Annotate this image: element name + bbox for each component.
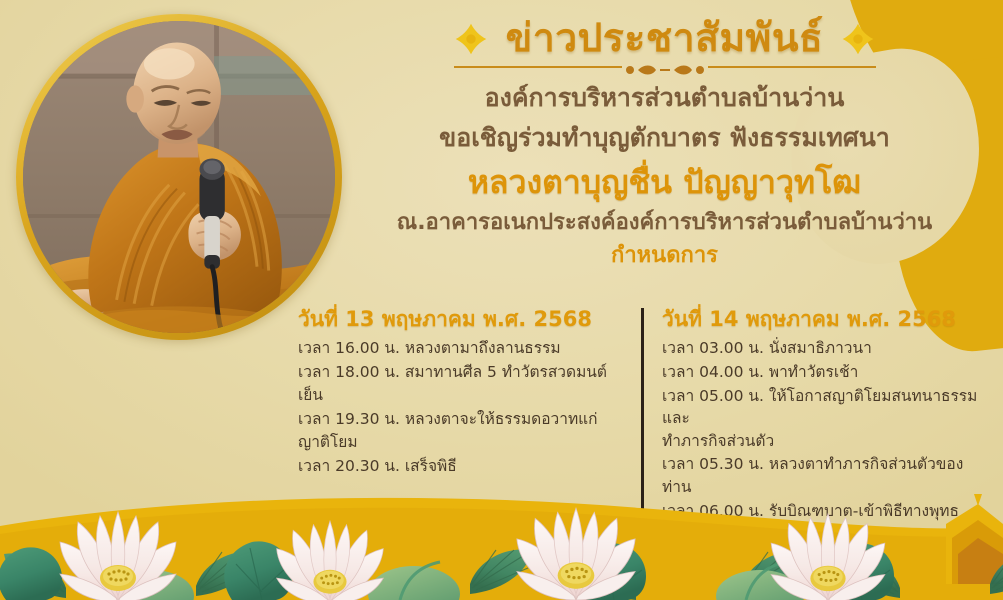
organization-name: องค์การบริหารส่วนตำบลบ้านว่าน <box>352 81 977 114</box>
quatrefoil-ornament-left <box>454 22 488 56</box>
schedule-item: เวลา 16.00 น. หลวงตามาถึงลานธรรม <box>298 337 627 360</box>
schedule-item: เวลา 18.00 น. สมาทานศีล 5 ทำวัตรสวดมนต์เ… <box>298 361 627 407</box>
quatrefoil-ornament-right <box>841 22 875 56</box>
schedule-item: เวลา 03.00 น. นั่งสมาธิภาวนา <box>662 337 984 360</box>
thai-temple-roof-ornament <box>946 494 1003 584</box>
schedule-item: เวลา 04.00 น. พาทำวัตรเช้า <box>662 361 984 384</box>
schedule-item: เวลา 05.00 น. ให้โอกาสญาติโยมสนทนาธรรมแล… <box>662 385 984 453</box>
schedule-item: เวลา 20.30 น. เสร็จพิธี <box>298 455 627 478</box>
day1-heading: วันที่ 13 พฤษภาคม พ.ศ. 2568 <box>298 306 627 332</box>
schedule-column-day1: วันที่ 13 พฤษภาคม พ.ศ. 2568 เวลา 16.00 น… <box>296 306 641 479</box>
page-title: ข่าวประชาสัมพันธ์ <box>506 18 824 61</box>
agenda-label: กำหนดการ <box>352 243 977 269</box>
title-row: ข่าวประชาสัมพันธ์ <box>352 18 977 61</box>
monk-photo <box>23 21 335 333</box>
day2-heading: วันที่ 14 พฤษภาคม พ.ศ. 2568 <box>662 306 984 332</box>
invitation-text: ขอเชิญร่วมทำบุญตักบาตร ฟังธรรมเทศนา <box>352 121 977 154</box>
poster-canvas: ข่าวประชาสัมพันธ์ องค์การบริหารส่วนตำบลบ… <box>0 0 1003 600</box>
venue-text: ณ.อาคารอเนกประสงค์องค์การบริหารส่วนตำบลบ… <box>352 209 977 238</box>
poster-header: ข่าวประชาสัมพันธ์ องค์การบริหารส่วนตำบลบ… <box>352 18 977 269</box>
title-divider-ornament <box>450 62 880 76</box>
schedule-item: เวลา 19.30 น. หลวงตาจะให้ธรรมดอวาทแก่ญาต… <box>298 408 627 454</box>
monk-photo-frame <box>16 14 342 340</box>
monk-name: หลวงตาบุญชื่น ปัญญาวุทโฒ <box>352 163 977 201</box>
lotus-flower-border <box>0 480 1003 600</box>
